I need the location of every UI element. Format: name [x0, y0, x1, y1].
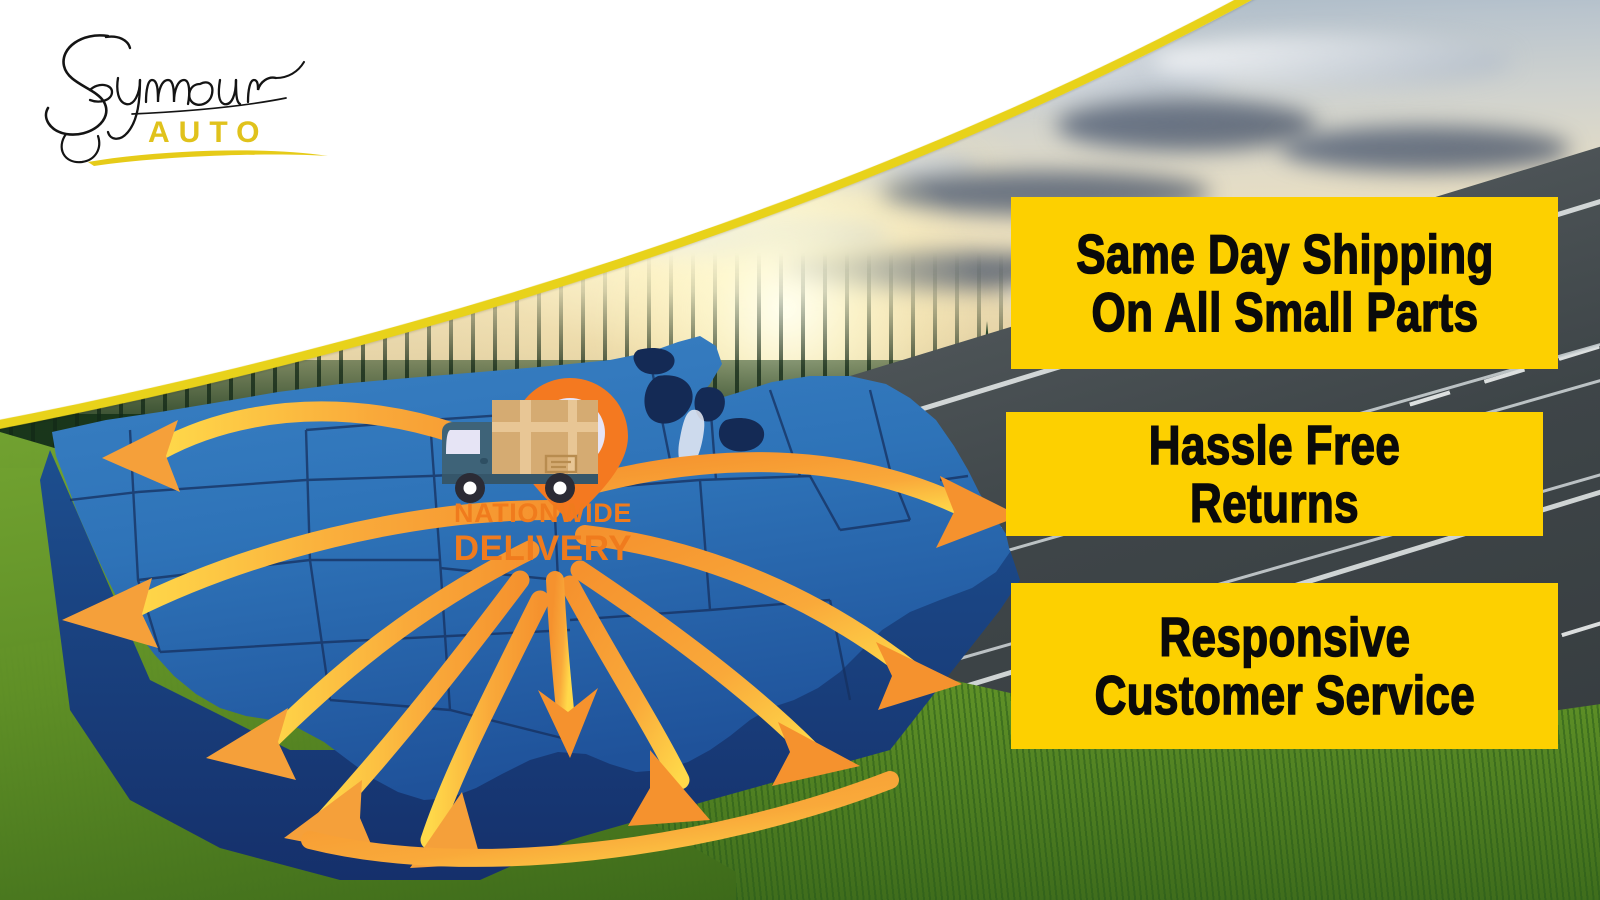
- callout-responsive-customer-service[interactable]: Responsive Customer Service: [1011, 583, 1558, 749]
- callout-hassle-free-returns[interactable]: Hassle Free Returns: [1006, 412, 1543, 536]
- brand-logo[interactable]: AUTO: [36, 22, 336, 172]
- svg-text:AUTO: AUTO: [148, 116, 268, 149]
- logo-auto-text: AUTO: [148, 116, 268, 149]
- cloud: [1056, 99, 1316, 151]
- callout-text: Same Day Shipping On All Small Parts: [1076, 225, 1494, 342]
- logo-underline-swoosh: [88, 150, 328, 166]
- promotional-banner: AUTO: [0, 0, 1600, 900]
- nationwide-line-2: DELIVERY: [428, 531, 658, 566]
- callout-text: Responsive Customer Service: [1094, 608, 1475, 725]
- delivery-truck-icon: [442, 400, 598, 503]
- cloud: [1152, 36, 1512, 86]
- nationwide-delivery-label: NATIONWIDE DELIVERY: [428, 500, 658, 566]
- callout-same-day-shipping[interactable]: Same Day Shipping On All Small Parts: [1011, 197, 1558, 369]
- callout-text: Hassle Free Returns: [1060, 416, 1490, 533]
- nationwide-line-1: NATIONWIDE: [428, 500, 658, 527]
- cloud: [1280, 126, 1570, 172]
